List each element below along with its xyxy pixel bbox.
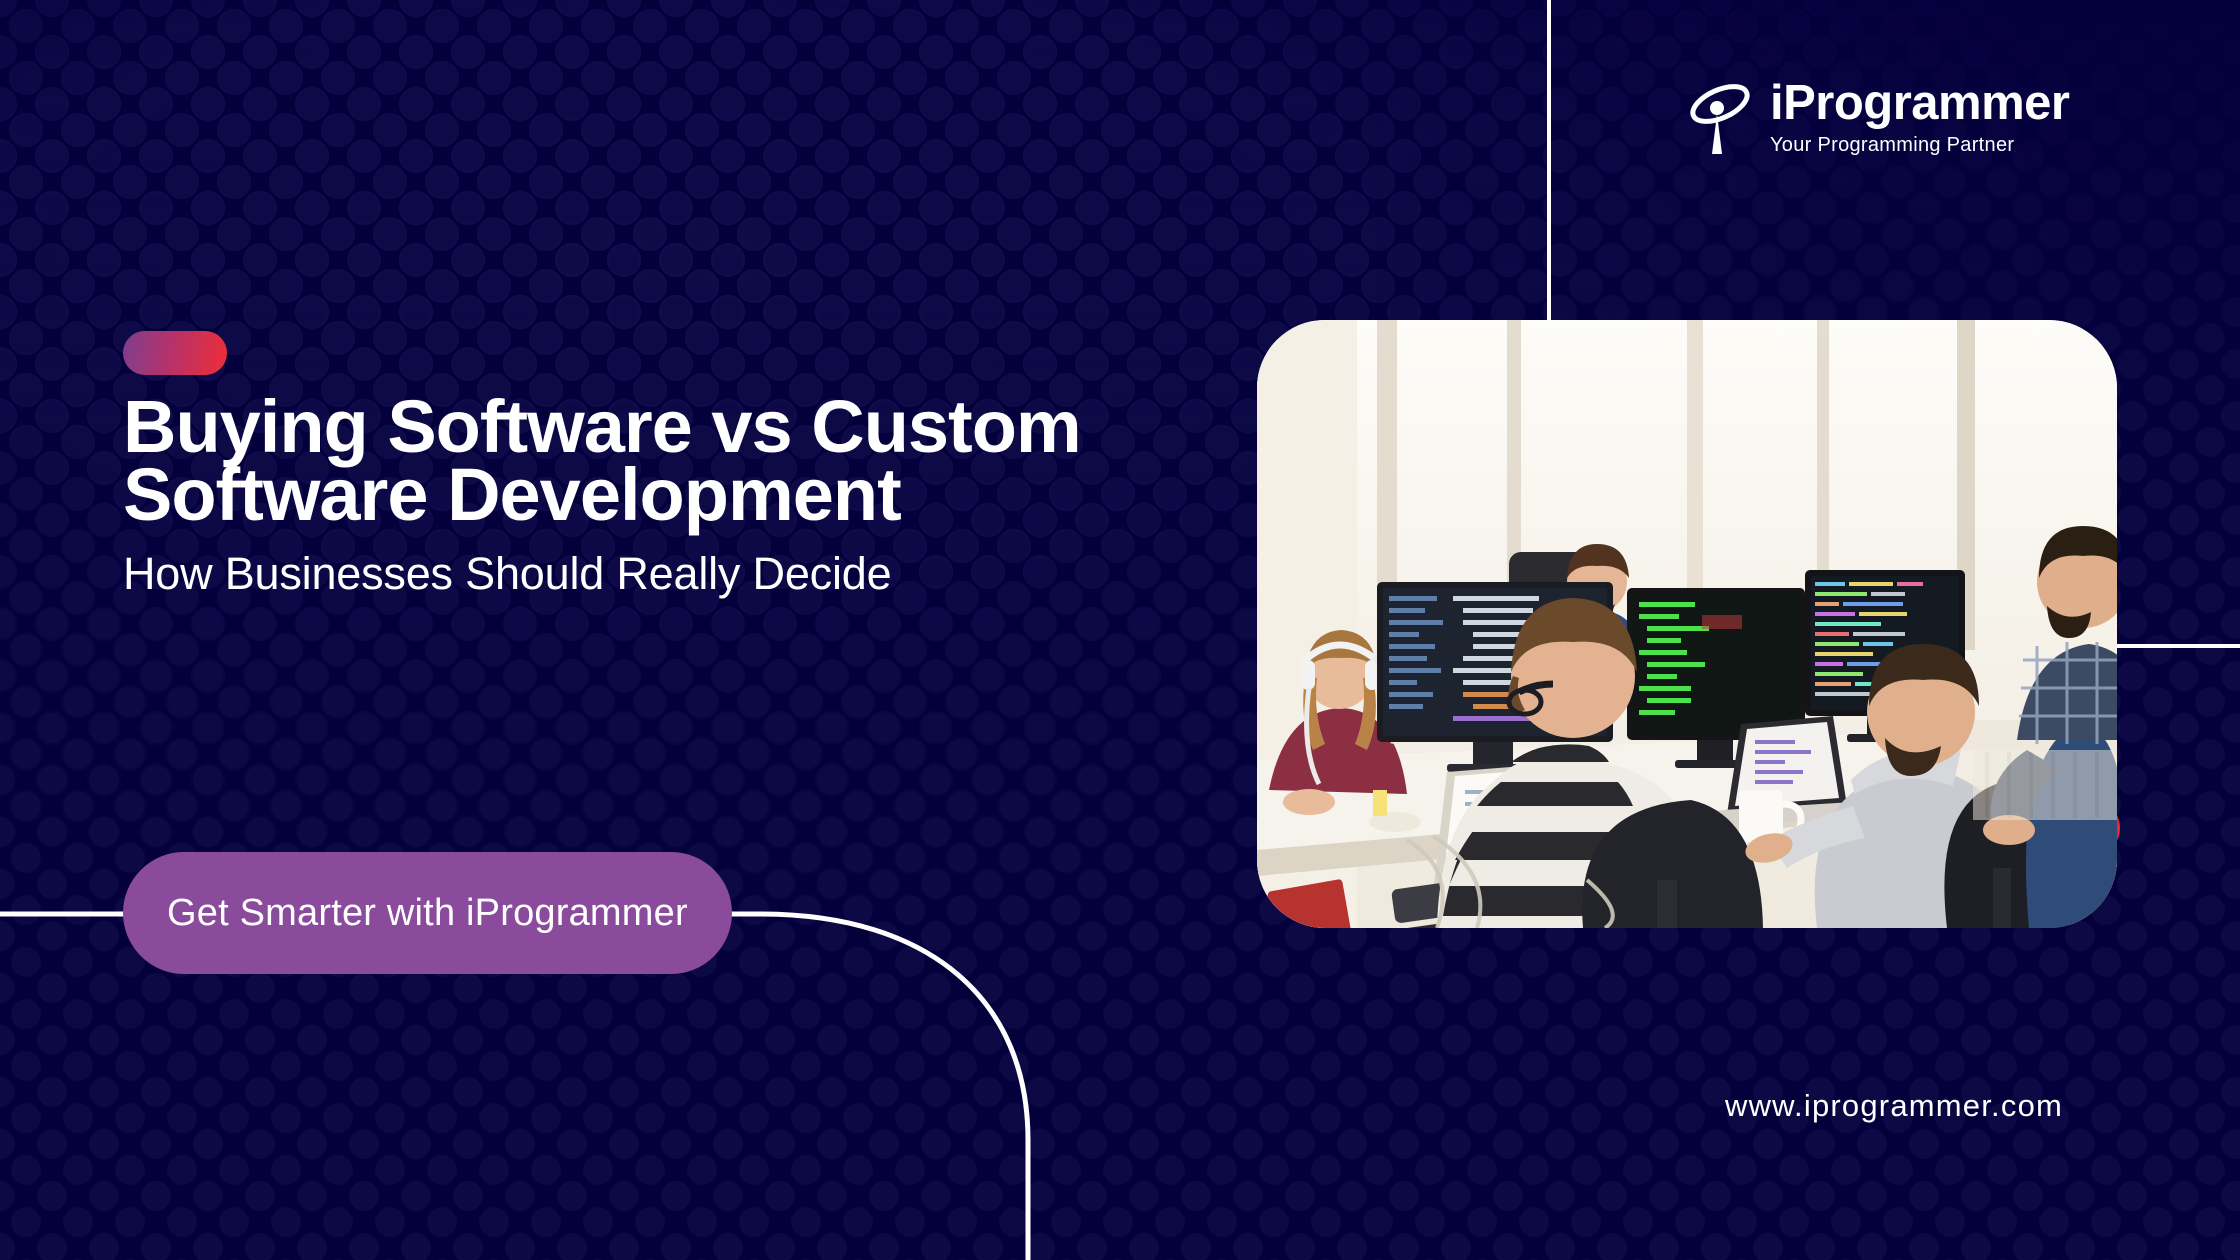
site-url[interactable]: www.iprogrammer.com (1725, 1088, 2063, 1124)
office-team-illustration (1257, 320, 2117, 928)
cta-button[interactable]: Get Smarter with iProgrammer (123, 852, 732, 974)
logo-tagline: Your Programming Partner (1770, 135, 2070, 155)
logo-name: iProgrammer (1770, 79, 2070, 128)
logo-wordmark-group: iProgrammer Your Programming Partner (1770, 79, 2070, 155)
orbit-satellite-icon (1688, 78, 1754, 156)
gradient-pill-accent (123, 331, 227, 375)
page-title: Buying Software vs Custom Software Devel… (123, 393, 1123, 529)
promo-banner: iProgrammer Your Programming Partner Buy… (0, 0, 2240, 1260)
headline-block: Buying Software vs Custom Software Devel… (123, 393, 1123, 597)
radiator (1973, 750, 2117, 820)
brand-logo[interactable]: iProgrammer Your Programming Partner (1688, 78, 2070, 156)
hero-image (1257, 320, 2117, 928)
page-subtitle: How Businesses Should Really Decide (123, 551, 1123, 597)
